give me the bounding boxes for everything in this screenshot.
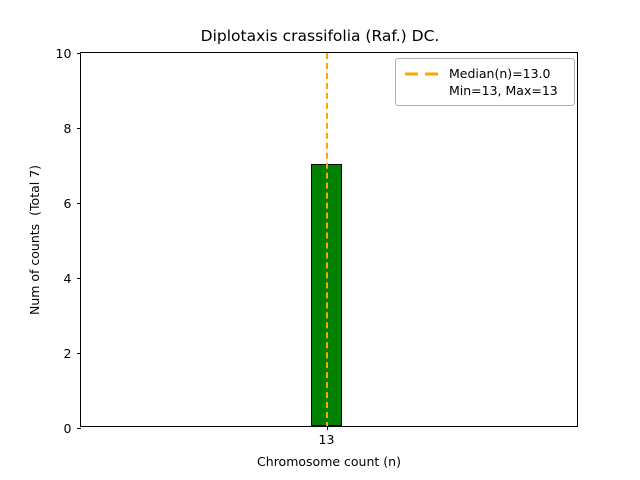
y-axis-label-line2: (Total 7) bbox=[27, 164, 42, 215]
y-tick-label-10: 10 bbox=[56, 48, 72, 61]
y-tick-0: 0 bbox=[77, 428, 81, 429]
y-tick-4: 4 bbox=[77, 278, 81, 279]
legend-entry-median: Median(n)=13.0 bbox=[403, 65, 566, 82]
x-tick-13 bbox=[327, 426, 328, 430]
y-tick-6: 6 bbox=[77, 203, 81, 204]
y-tick-8: 8 bbox=[77, 128, 81, 129]
y-tick-2: 2 bbox=[77, 353, 81, 354]
dashed-line-icon bbox=[403, 68, 441, 80]
x-axis-label: Chromosome count (n) bbox=[80, 455, 578, 469]
y-tick-label-6: 6 bbox=[63, 198, 71, 211]
legend-label-minmax: Min=13, Max=13 bbox=[449, 82, 558, 99]
y-tick-label-8: 8 bbox=[63, 123, 71, 136]
chart-title: Diplotaxis crassifolia (Raf.) DC. bbox=[0, 26, 640, 46]
y-axis-label-line1: Num of counts bbox=[27, 223, 42, 314]
y-tick-10: 10 bbox=[77, 53, 81, 54]
y-tick-label-4: 4 bbox=[63, 273, 71, 286]
x-tick-label-13: 13 bbox=[319, 433, 335, 447]
plot-axes: 0 2 4 6 8 10 13 Median(n)=13.0 bbox=[80, 52, 578, 427]
y-axis-label-container: Num of counts (Total 7) bbox=[17, 52, 53, 427]
plot-area bbox=[81, 53, 577, 426]
y-axis-label: Num of counts (Total 7) bbox=[27, 164, 43, 314]
legend-entry-minmax: Min=13, Max=13 bbox=[403, 82, 566, 99]
legend-label-median: Median(n)=13.0 bbox=[449, 65, 550, 82]
chart-legend: Median(n)=13.0 Min=13, Max=13 bbox=[395, 58, 575, 106]
chart-figure: Diplotaxis crassifolia (Raf.) DC. Num of… bbox=[0, 0, 640, 480]
median-line bbox=[326, 53, 328, 426]
y-tick-label-2: 2 bbox=[63, 348, 71, 361]
y-tick-label-0: 0 bbox=[63, 423, 71, 436]
